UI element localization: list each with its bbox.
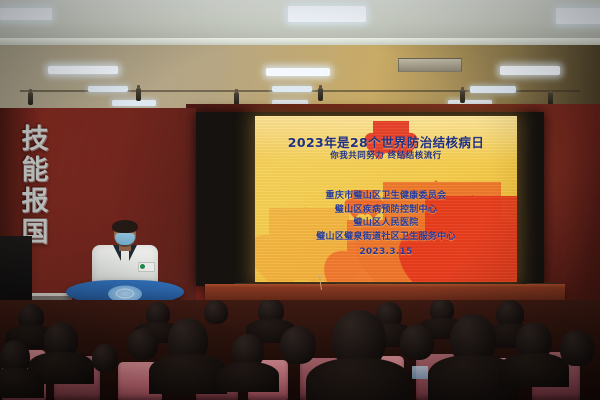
audience-person-7 [450,314,496,364]
audience-person-8 [516,322,552,360]
audience-backrow-person-2 [258,300,284,324]
audience-person-2 [168,318,208,362]
wall-slogan-char-2: 报 [22,188,49,215]
conference-photo: 技能报国 2023年是28个世界防治结核病日 你我共同努力 终结结核流行 重庆市… [0,0,600,400]
ceiling-spotlight-0 [28,92,33,105]
speaker-hair [112,220,138,233]
wall-slogan-technical-skills: 技能报国 [12,126,58,246]
audience-area [0,300,600,400]
ceiling-panel-light-10 [470,86,516,93]
ceiling-panel-light-7 [272,86,312,92]
ceiling-panel-light-0 [0,8,52,20]
slide-organization-1: 璧山区疾病预防控制中心 [255,204,517,218]
slide-organization-list: 重庆市璧山区卫生健康委员会璧山区疾病预防控制中心璧山区人民医院璧山区璧泉街道社区… [255,190,517,260]
audience-backrow-person-6 [146,302,170,326]
slide-organization-2: 璧山区人民医院 [255,217,517,231]
speaker-face-mask [115,233,135,245]
ceiling-panel-light-5 [112,100,156,106]
audience-backrow-person-4 [430,300,454,322]
ceiling-spotlight-3 [318,88,323,101]
audience-person-6 [400,324,434,360]
audience-person-0 [44,322,78,358]
ceiling-panel-light-6 [266,68,330,76]
audience-person-9 [560,330,594,366]
slide-organization-3: 璧山区璧泉街道社区卫生服务中心 [255,231,517,245]
ceiling-vent-grille [398,58,462,72]
audience-person-5 [332,310,386,368]
wall-slogan-char-1: 能 [22,157,49,184]
ceiling-spotlight-4 [460,90,465,103]
ceiling-panel-light-3 [48,66,118,74]
audience-backrow-person-5 [496,300,524,328]
ceiling-panel-light-4 [88,86,128,92]
wall-slogan-char-0: 技 [22,126,49,153]
ceiling-spotlight-1 [136,88,141,101]
speaker-chest-badge [138,262,155,272]
audience-person-11 [92,344,118,372]
ceiling-panel-light-2 [556,8,600,24]
slide-date: 2023.3.15 [255,246,517,260]
projection-screen: 2023年是28个世界防治结核病日 你我共同努力 终结结核流行 重庆市璧山区卫生… [255,116,517,282]
audience-person-1 [128,328,158,360]
stage-table-edge [205,284,565,288]
slide-subtitle: 你我共同努力 终结结核流行 [255,149,517,161]
audience-person-10 [0,340,30,374]
audience-person-4 [280,326,316,364]
audience-laptop-screen [412,366,428,379]
ceiling-panel-light-9 [500,66,560,75]
audience-person-3 [232,334,264,368]
audience-backrow-person-1 [204,300,228,324]
slide-organization-0: 重庆市璧山区卫生健康委员会 [255,190,517,204]
ceiling-panel-light-1 [288,6,366,22]
audience-backrow-person-0 [18,304,44,330]
